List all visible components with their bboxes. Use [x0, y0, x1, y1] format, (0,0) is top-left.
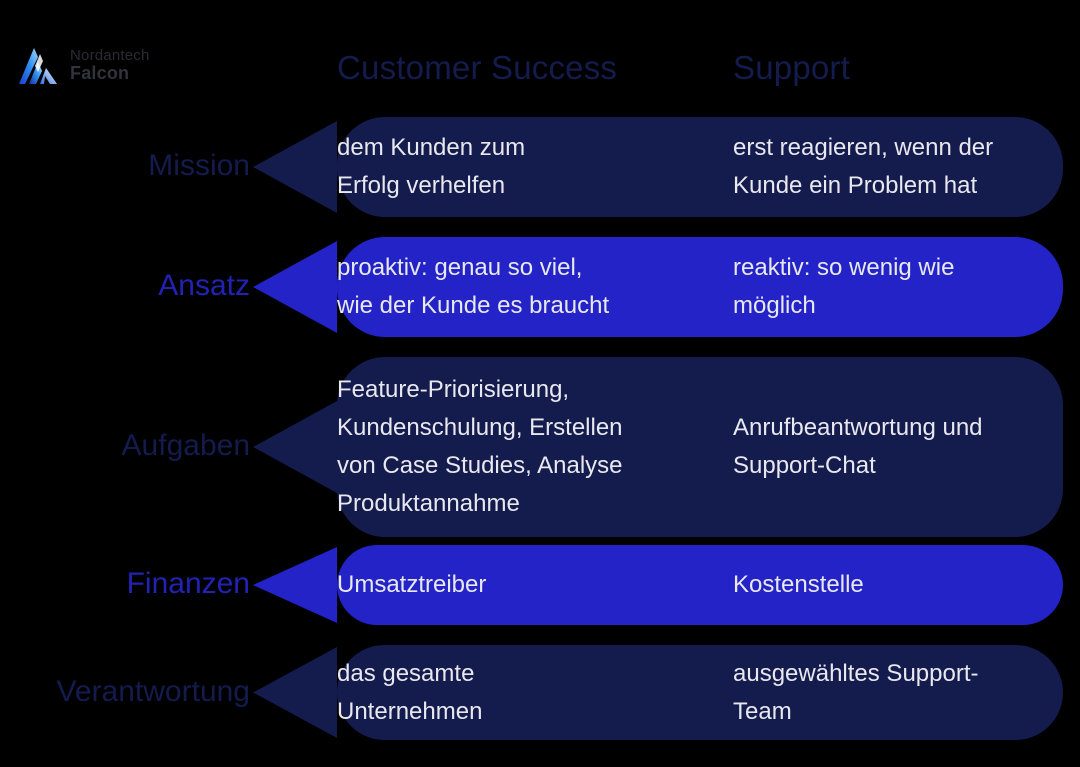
- comparison-row: FinanzenUmsatztreiberKostenstelle: [0, 545, 1063, 625]
- brand-name-secondary: Falcon: [70, 64, 150, 82]
- cell-customer-success: das gesamte Unternehmen: [337, 655, 733, 731]
- cell-support: Kostenstelle: [733, 566, 1063, 604]
- brand-name-primary: Nordantech: [70, 48, 150, 63]
- cell-customer-success: Umsatztreiber: [337, 566, 733, 604]
- row-cells: dem Kunden zum Erfolg verhelfenerst reag…: [337, 117, 1063, 217]
- cell-customer-success: dem Kunden zum Erfolg verhelfen: [337, 129, 733, 205]
- row-label-verantwortung: Verantwortung: [0, 677, 250, 707]
- row-label-aufgaben: Aufgaben: [0, 431, 250, 461]
- column-header-customer-success: Customer Success: [337, 49, 617, 87]
- cell-support: ausgewähltes Support- Team: [733, 655, 1063, 731]
- row-label-mission: Mission: [0, 151, 250, 181]
- nordantech-falcon-logo-icon: [16, 44, 60, 86]
- row-cells: proaktiv: genau so viel, wie der Kunde e…: [337, 237, 1063, 337]
- brand-logo: Nordantech Falcon: [16, 44, 150, 86]
- cell-customer-success: Feature-Priorisierung, Kundenschulung, E…: [337, 371, 733, 523]
- row-label-ansatz: Ansatz: [0, 271, 250, 301]
- column-header-support: Support: [733, 49, 850, 87]
- comparison-row: AufgabenFeature-Priorisierung, Kundensch…: [0, 357, 1063, 537]
- cell-support: reaktiv: so wenig wie möglich: [733, 249, 1063, 325]
- cell-customer-success: proaktiv: genau so viel, wie der Kunde e…: [337, 249, 733, 325]
- comparison-row: Ansatzproaktiv: genau so viel, wie der K…: [0, 237, 1063, 337]
- row-cells: Feature-Priorisierung, Kundenschulung, E…: [337, 357, 1063, 537]
- comparison-row: Verantwortungdas gesamte Unternehmenausg…: [0, 645, 1063, 740]
- cell-support: Anrufbeantwortung und Support-Chat: [733, 409, 1063, 485]
- row-cells: das gesamte Unternehmenausgewähltes Supp…: [337, 645, 1063, 740]
- cell-support: erst reagieren, wenn der Kunde ein Probl…: [733, 129, 1063, 205]
- row-cells: UmsatztreiberKostenstelle: [337, 545, 1063, 625]
- comparison-row: Missiondem Kunden zum Erfolg verhelfener…: [0, 117, 1063, 217]
- row-label-finanzen: Finanzen: [0, 569, 250, 599]
